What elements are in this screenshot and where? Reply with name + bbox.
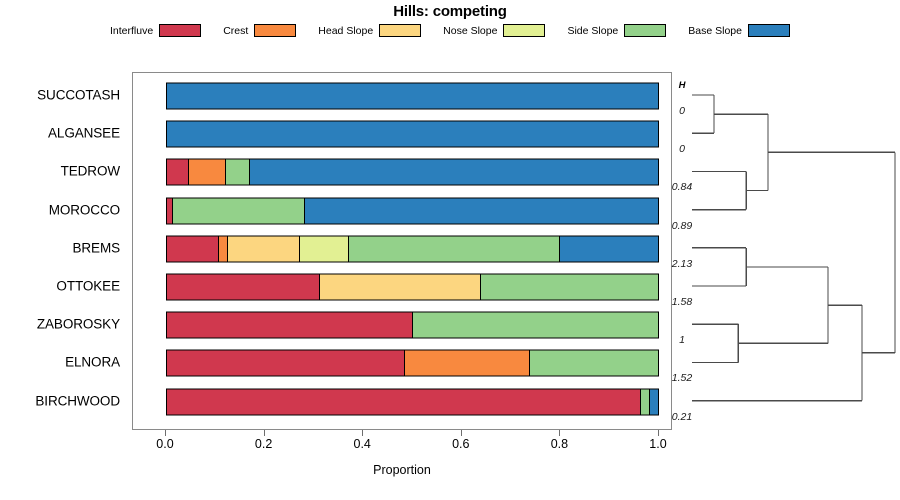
bar-segment[interactable] [349,236,560,261]
legend-item-crest[interactable]: Crest [223,24,296,37]
bar-row[interactable] [166,121,659,148]
x-tick-label: 1.0 [649,437,666,451]
legend-swatch [503,24,545,37]
legend-label: Interfluve [110,25,153,37]
bar-segment[interactable] [167,122,658,147]
chart-root: Hills: competing InterfluveCrestHead Slo… [0,0,900,500]
y-axis-label: ZABOROSKY [37,317,120,332]
bar-segment[interactable] [250,160,658,185]
x-tick-label: 0.6 [452,437,469,451]
bar-row[interactable] [166,235,659,262]
y-axis-label: BIRCHWOOD [35,393,120,408]
x-tick [461,430,462,436]
legend: InterfluveCrestHead SlopeNose SlopeSide … [0,24,900,37]
bar-row[interactable] [166,83,659,110]
legend-label: Crest [223,25,248,37]
x-tick-label: 0.0 [156,437,173,451]
legend-item-nose-slope[interactable]: Nose Slope [443,24,545,37]
bar-segment[interactable] [320,275,481,300]
bar-row[interactable] [166,388,659,415]
x-tick [264,430,265,436]
legend-swatch [379,24,421,37]
y-axis-label: ELNORA [65,355,120,370]
bar-segment[interactable] [167,389,641,414]
bar-segment[interactable] [226,160,251,185]
legend-label: Base Slope [688,25,742,37]
legend-label: Head Slope [318,25,373,37]
y-axis-label: BREMS [72,240,120,255]
bar-row[interactable] [166,197,659,224]
x-tick-label: 0.4 [353,437,370,451]
y-axis-labels: SUCCOTASHALGANSEETEDROWMOROCCOBREMSOTTOK… [0,72,128,430]
bar-segment[interactable] [300,236,349,261]
bar-segment[interactable] [481,275,658,300]
bar-segment[interactable] [167,84,658,109]
x-tick-label: 0.2 [255,437,272,451]
legend-item-side-slope[interactable]: Side Slope [567,24,666,37]
bar-segment[interactable] [167,313,413,338]
x-axis-title: Proportion [132,463,672,477]
dendrogram [690,72,898,430]
bar-segment[interactable] [305,198,658,223]
bar-segment[interactable] [167,351,405,376]
legend-item-base-slope[interactable]: Base Slope [688,24,790,37]
bar-segment[interactable] [405,351,530,376]
bar-segment[interactable] [560,236,658,261]
x-tick [362,430,363,436]
y-axis-label: ALGANSEE [48,126,120,141]
page-title: Hills: competing [0,3,900,20]
bar-segment[interactable] [650,389,658,414]
plot-panel [132,72,672,430]
legend-swatch [624,24,666,37]
bar-segment[interactable] [219,236,229,261]
x-tick-label: 0.8 [551,437,568,451]
legend-label: Side Slope [567,25,618,37]
bar-segment[interactable] [167,275,320,300]
x-tick [658,430,659,436]
bar-segment[interactable] [189,160,226,185]
x-tick [559,430,560,436]
legend-item-head-slope[interactable]: Head Slope [318,24,421,37]
bar-segment[interactable] [167,236,219,261]
legend-swatch [159,24,201,37]
bar-segment[interactable] [530,351,658,376]
y-axis-label: TEDROW [61,164,120,179]
bar-row[interactable] [166,274,659,301]
bar-segment[interactable] [167,160,189,185]
legend-label: Nose Slope [443,25,497,37]
bar-segment[interactable] [173,198,306,223]
y-axis-label: MOROCCO [49,202,120,217]
bar-row[interactable] [166,159,659,186]
x-tick [165,430,166,436]
bar-row[interactable] [166,312,659,339]
stacked-bars [133,73,673,431]
bar-segment[interactable] [641,389,650,414]
bar-segment[interactable] [228,236,299,261]
bar-row[interactable] [166,350,659,377]
y-axis-label: SUCCOTASH [37,88,120,103]
dendrogram-svg [690,72,898,430]
bar-segment[interactable] [413,313,659,338]
y-axis-label: OTTOKEE [56,279,120,294]
legend-swatch [748,24,790,37]
legend-swatch [254,24,296,37]
legend-item-interfluve[interactable]: Interfluve [110,24,201,37]
